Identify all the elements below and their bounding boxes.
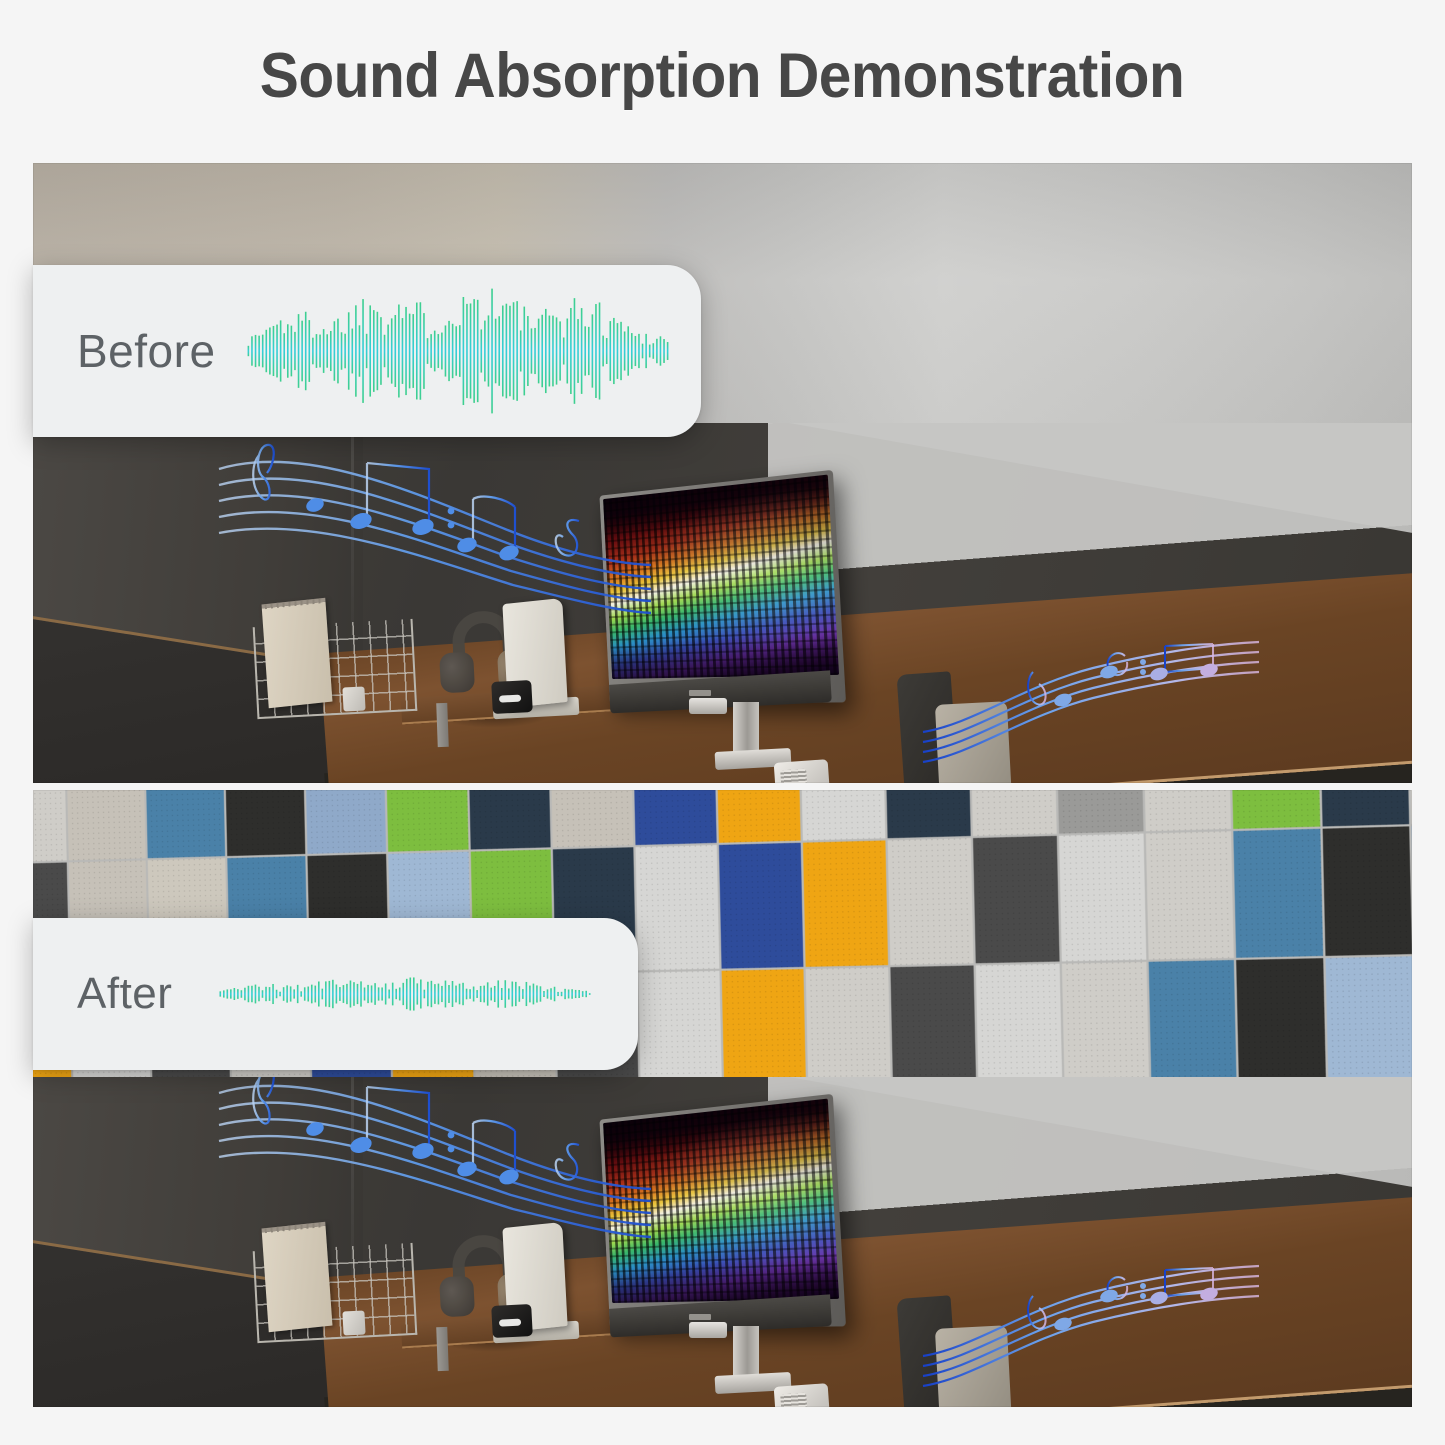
acoustic-panel-tile [1062, 962, 1149, 1089]
waveform-bar [519, 986, 521, 1002]
waveform-bar [477, 300, 479, 402]
waveform-bar [445, 981, 447, 1008]
page-title: Sound Absorption Demonstration [260, 40, 1185, 112]
chair-back-after [935, 1325, 1013, 1407]
waveform-bar [269, 327, 271, 374]
waveform-bar [389, 990, 391, 999]
waveform-bar [284, 333, 286, 369]
waveform-bar [606, 338, 608, 364]
waveform-bar [494, 986, 496, 1002]
waveform-bar [420, 302, 422, 399]
waveform-bar [346, 984, 348, 1004]
waveform-bar [459, 984, 461, 1005]
monitor-logo-after [689, 1314, 711, 1320]
waveform-bar [628, 326, 630, 375]
acoustic-panel-tile [1231, 790, 1320, 829]
waveform-bar [255, 985, 257, 1004]
waveform-bar [487, 982, 489, 1005]
page-header: Sound Absorption Demonstration [0, 0, 1445, 152]
waveform-bar [352, 329, 354, 374]
waveform-bar [334, 321, 336, 380]
waveform-bar [560, 321, 562, 380]
waveform-bar [396, 989, 398, 999]
acoustic-panel-tile [1322, 826, 1412, 956]
waveform-bar [480, 986, 482, 1002]
waveform-bar [329, 981, 331, 1007]
waveform-bar [610, 321, 612, 381]
waveform-bar [547, 989, 549, 998]
riser-leg [436, 703, 449, 747]
waveform-bar [459, 325, 461, 377]
waveform-bar [294, 989, 296, 998]
riser-leg-after [436, 1327, 449, 1371]
waveform-bar [315, 986, 317, 1003]
waveform-bar [395, 315, 397, 387]
acoustic-panel-tile [803, 840, 888, 966]
waveform-bar [272, 984, 274, 1004]
acoustic-panel-tile [1059, 833, 1146, 961]
waveform-bar [343, 985, 345, 1003]
waveform-bar [646, 334, 648, 368]
acoustic-panel-tile [716, 790, 801, 843]
waveform-bar [529, 986, 531, 1003]
waveform-bar [220, 991, 222, 996]
waveform-bar [255, 335, 257, 367]
waveform-bar [543, 991, 545, 997]
waveform-bar [230, 989, 232, 998]
waveform-bar [337, 319, 339, 384]
waveform-bar [420, 979, 422, 1008]
waveform-bar [512, 982, 514, 1007]
waveform-bar [495, 319, 497, 384]
waveform-bar [290, 986, 292, 1001]
waveform-bar [262, 335, 264, 368]
waveform-bar [363, 299, 365, 403]
waveform-bar [339, 987, 341, 1001]
after-label: After [77, 969, 172, 1019]
acoustic-panel-tile [970, 790, 1057, 836]
acoustic-panel-tile [305, 790, 386, 854]
waveform-bar [311, 985, 313, 1004]
waveform-bar [441, 986, 443, 1002]
waveform-bar [374, 983, 376, 1005]
waveform-bar [259, 336, 261, 367]
before-label-card: Before [33, 265, 701, 437]
waveform-bar [554, 987, 556, 1001]
waveform-bar [445, 325, 447, 376]
waveform-bar [223, 990, 225, 997]
waveform-bar [277, 325, 279, 378]
monitor-logo [689, 690, 711, 696]
acoustic-panel-tile [1408, 790, 1412, 824]
waveform-bar [302, 321, 304, 382]
waveform-bar [431, 334, 433, 368]
waveform-bar [416, 303, 418, 400]
waveform-bar [305, 312, 307, 390]
waveform-bar [649, 345, 651, 358]
waveform-bar [449, 321, 451, 381]
waveform-bar [322, 989, 324, 1000]
waveform-bar [304, 987, 306, 1000]
waveform-bar [572, 989, 574, 999]
waveform-bar [578, 319, 580, 383]
waveform-bar [287, 324, 289, 377]
waveform-bar [538, 319, 540, 384]
acoustic-panel-tile [1057, 790, 1144, 834]
waveform-bar [280, 320, 282, 381]
waveform-bar [599, 302, 601, 399]
waveform-bar [406, 979, 408, 1009]
waveform-bar [364, 988, 366, 1001]
waveform-bar [581, 308, 583, 394]
waveform-bar [423, 313, 425, 389]
waveform-bar [452, 981, 454, 1007]
waveform-bar [336, 985, 338, 1004]
waveform-bar [438, 984, 440, 1005]
before-scene-panel [33, 163, 1412, 783]
waveform-bar [455, 986, 457, 1003]
waveform-bar [373, 310, 375, 392]
waveform-bar [279, 992, 281, 997]
waveform-bar [638, 334, 640, 368]
acoustic-panel-tile [1146, 831, 1234, 959]
waveform-bar [466, 304, 468, 398]
waveform-bar [384, 335, 386, 367]
waveform-bar [499, 316, 501, 386]
waveform-bar [325, 981, 327, 1006]
waveform-bar [385, 983, 387, 1004]
acoustic-panel-tile [1143, 790, 1231, 831]
waveform-bar [431, 981, 433, 1007]
monitor-control-nub [689, 698, 727, 714]
laptop-stand-dock [491, 680, 533, 714]
waveform-bar [251, 986, 253, 1002]
acoustic-panel-tile [145, 790, 225, 858]
waveform-bar [248, 346, 250, 356]
monitor-screen-equalizer-after [603, 1099, 839, 1303]
waveform-bar [409, 314, 411, 389]
waveform-bar [527, 316, 529, 386]
waveform-bar [556, 317, 558, 384]
waveform-bar [318, 981, 320, 1006]
waveform-bar [557, 992, 559, 996]
waveform-bar [427, 982, 429, 1007]
waveform-bar [283, 987, 285, 1001]
waveform-bar [269, 987, 271, 1001]
waveform-bar [589, 993, 591, 995]
acoustic-panel-tile [1411, 824, 1412, 954]
chair-back [935, 701, 1013, 783]
acoustic-panel-tile [633, 790, 717, 845]
waveform-bar [382, 987, 384, 1000]
waveform-bar [517, 301, 519, 401]
waveform-bar [391, 318, 393, 383]
waveform-bar [448, 985, 450, 1003]
eraser-after [342, 1310, 365, 1335]
waveform-bar [502, 306, 504, 397]
acoustic-panel-tile [721, 969, 806, 1094]
waveform-bar [660, 336, 662, 365]
acoustic-panel-tile [888, 838, 974, 965]
waveform-bar [359, 325, 361, 376]
waveform-bar [656, 339, 658, 363]
acoustic-panel-tile [1234, 829, 1323, 958]
waveform-bar [403, 983, 405, 1005]
waveform-bar [526, 982, 528, 1006]
waveform-bar [474, 299, 476, 403]
acoustic-panel-tile [800, 790, 885, 841]
waveform-bar [586, 991, 588, 997]
desk-speaker-after [774, 1383, 831, 1407]
waveform-bar [484, 321, 486, 382]
waveform-bar [309, 320, 311, 382]
waveform-bar [550, 988, 552, 999]
waveform-bar [360, 981, 362, 1006]
waveform-bar [469, 989, 471, 999]
waveform-bar [370, 305, 372, 396]
headphone-cup-left-after [439, 1276, 475, 1318]
acoustic-panel-tile [719, 843, 804, 969]
waveform-bar [241, 990, 243, 998]
waveform-bar [298, 314, 300, 388]
waveform-bar [399, 988, 401, 1001]
monitor-bezel-after [599, 1094, 846, 1328]
acoustic-panel-tile [1237, 958, 1326, 1087]
waveform-bar [524, 307, 526, 396]
after-room [33, 1077, 1412, 1407]
waveform-bar [227, 989, 229, 998]
waveform-bar [327, 334, 329, 367]
waveform-bar [312, 338, 314, 365]
waveform-bar [542, 315, 544, 387]
waveform-bar [513, 302, 515, 400]
waveform-bar [402, 318, 404, 384]
waveform-bar [540, 986, 542, 1001]
before-waveform [216, 265, 701, 437]
waveform-bar [392, 983, 394, 1006]
waveform-bar [258, 987, 260, 1002]
acoustic-panel-tile [976, 964, 1063, 1091]
before-label: Before [77, 324, 216, 378]
waveform-bar [515, 982, 517, 1006]
waveform-bar [244, 988, 246, 1001]
waveform-bar [585, 326, 587, 375]
waveform-bar [308, 987, 310, 1002]
waveform-bar [377, 312, 379, 390]
waveform-bar [617, 323, 619, 379]
waveform-bar [378, 987, 380, 1000]
waveform-bar [248, 986, 250, 1002]
monitor-bezel [599, 470, 846, 704]
waveform-bar [552, 316, 554, 387]
waveform-bar [535, 328, 537, 374]
acoustic-panel-tile [1149, 960, 1237, 1088]
waveform-bar [251, 336, 253, 365]
waveform-bar [294, 332, 296, 370]
waveform-bar [509, 306, 511, 396]
laptop-stand-dock-after [491, 1304, 533, 1338]
waveform-bar [380, 317, 382, 385]
waveform-bar [491, 988, 493, 1001]
desk-speaker [774, 759, 831, 783]
waveform-bar [570, 308, 572, 394]
waveform-bar [588, 327, 590, 375]
waveform-bar [452, 324, 454, 378]
waveform-bar [631, 333, 633, 369]
eraser [342, 686, 365, 711]
waveform-bar [561, 992, 563, 996]
waveform-bar [367, 985, 369, 1003]
waveform-bar [506, 304, 508, 399]
acoustic-panel-tile [468, 790, 551, 850]
waveform-bar [653, 343, 655, 359]
waveform-bar [505, 980, 507, 1008]
waveform-bar [473, 987, 475, 1002]
monitor-screen-equalizer [603, 475, 839, 679]
waveform-bar [501, 988, 503, 1000]
waveform-bar [481, 329, 483, 372]
waveform-bar [613, 318, 615, 384]
waveform-bar [266, 330, 268, 372]
acoustic-panel-tile [635, 845, 719, 970]
waveform-bar [424, 990, 426, 999]
acoustic-panel-tile [33, 790, 67, 862]
waveform-bar [353, 982, 355, 1006]
waveform-bar [531, 328, 533, 373]
waveform-bar [462, 983, 464, 1005]
waveform-bar [488, 315, 490, 386]
waveform-bar [350, 981, 352, 1008]
waveform-bar [536, 985, 538, 1002]
waveform-bar [348, 312, 350, 389]
waveform-bar [355, 305, 357, 396]
monitor-control-nub-after [689, 1322, 727, 1338]
waveform-bar [265, 987, 267, 1001]
waveform-bar [564, 989, 566, 999]
waveform-bar [237, 989, 239, 999]
waveform-bar [410, 978, 412, 1011]
waveform-bar [287, 985, 289, 1002]
waveform-bar [276, 990, 278, 998]
waveform-bar [434, 984, 436, 1004]
curved-monitor [593, 483, 838, 758]
waveform-bar [635, 336, 637, 366]
waveform-bar [508, 988, 510, 999]
waveform-bar [341, 332, 343, 369]
waveform-bar [621, 322, 623, 380]
waveform-bar [466, 989, 468, 1000]
waveform-bar [624, 331, 626, 370]
waveform-bar [234, 988, 236, 1000]
acoustic-panel-tile [885, 790, 971, 838]
acoustic-panel-tile [1319, 790, 1408, 827]
waveform-bar [575, 990, 577, 998]
waveform-bar [492, 289, 494, 414]
waveform-bar [477, 990, 479, 998]
waveform-bar [441, 333, 443, 370]
acoustic-panel-tile [1325, 956, 1412, 1085]
waveform-bar [498, 980, 500, 1007]
waveform-bar [406, 307, 408, 395]
before-room [33, 423, 1412, 783]
after-waveform [172, 918, 638, 1070]
notepad-after [262, 1222, 333, 1332]
acoustic-panel-tile [225, 790, 306, 856]
waveform-bar [297, 985, 299, 1003]
waveform-bar [563, 337, 565, 364]
waveform-bar [427, 338, 429, 364]
waveform-bar [456, 326, 458, 375]
waveform-bar [568, 990, 570, 999]
waveform-bar [595, 304, 597, 398]
waveform-bar [357, 984, 359, 1004]
waveform-bar [316, 334, 318, 368]
waveform-bar [291, 326, 293, 377]
waveform-bar [301, 991, 303, 996]
waveform-bar [549, 316, 551, 387]
waveform-bar [582, 991, 584, 997]
waveform-bar [545, 309, 547, 393]
waveform-bar [262, 990, 264, 998]
waveform-bar [463, 297, 465, 405]
acoustic-panel-tile [550, 790, 633, 847]
headphone-cup-left [439, 652, 475, 694]
acoustic-panel-tile [66, 790, 145, 860]
acoustic-panel-tile [890, 965, 976, 1091]
waveform-bar [579, 990, 581, 998]
waveform-bar [520, 330, 522, 371]
waveform-bar [417, 983, 419, 1004]
waveform-bar [323, 329, 325, 373]
acoustic-panel-tile [386, 790, 468, 852]
waveform-bar [664, 339, 666, 363]
waveform-bar [273, 326, 275, 376]
waveform-bar [371, 985, 373, 1002]
waveform-bar [438, 334, 440, 368]
waveform-bar [567, 319, 569, 384]
waveform-bar [332, 980, 334, 1008]
after-label-card: After [33, 918, 638, 1070]
notepad [262, 598, 333, 708]
waveform-bar [592, 314, 594, 387]
waveform-bar [484, 986, 486, 1003]
acoustic-panel-tile [973, 836, 1060, 963]
waveform-bar [603, 336, 605, 367]
waveform-bar [642, 344, 644, 359]
waveform-bar [522, 989, 524, 999]
curved-monitor-after [593, 1107, 838, 1382]
waveform-bar [667, 342, 669, 360]
waveform-bar [413, 977, 415, 1010]
waveform-bar [413, 314, 415, 388]
waveform-bar [398, 305, 400, 398]
waveform-bar [434, 331, 436, 372]
waveform-bar [470, 303, 472, 398]
waveform-bar [320, 335, 322, 368]
after-scene-panel [33, 790, 1412, 1407]
waveform-bar [366, 334, 368, 368]
waveform-bar [330, 331, 332, 371]
waveform-bar [388, 325, 390, 378]
waveform-bar [574, 298, 576, 404]
waveform-bar [345, 334, 347, 369]
acoustic-panel-tile [806, 967, 891, 1093]
waveform-bar [533, 984, 535, 1005]
